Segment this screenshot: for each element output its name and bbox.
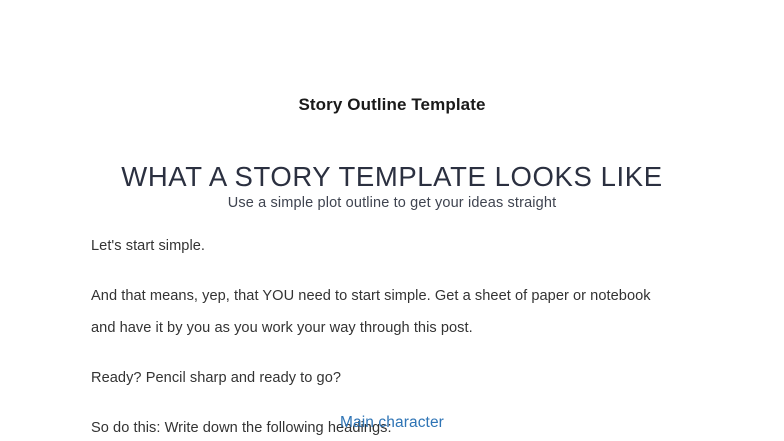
article-subheading: Use a simple plot outline to get your id… [0, 193, 784, 213]
article-heading: WHAT A STORY TEMPLATE LOOKS LIKE [0, 161, 784, 193]
document-page: Story Outline Template WHAT A STORY TEMP… [0, 0, 784, 441]
story-heading-item: Main character [0, 408, 784, 437]
story-headings-list: Main character Story goal [0, 408, 784, 441]
document-title: Story Outline Template [0, 94, 784, 116]
story-heading-item: Story goal [0, 437, 784, 441]
body-paragraph: And that means, yep, that YOU need to st… [91, 280, 659, 344]
body-paragraph: Ready? Pencil sharp and ready to go? [91, 362, 659, 394]
body-paragraph: Let's start simple. [91, 230, 659, 262]
